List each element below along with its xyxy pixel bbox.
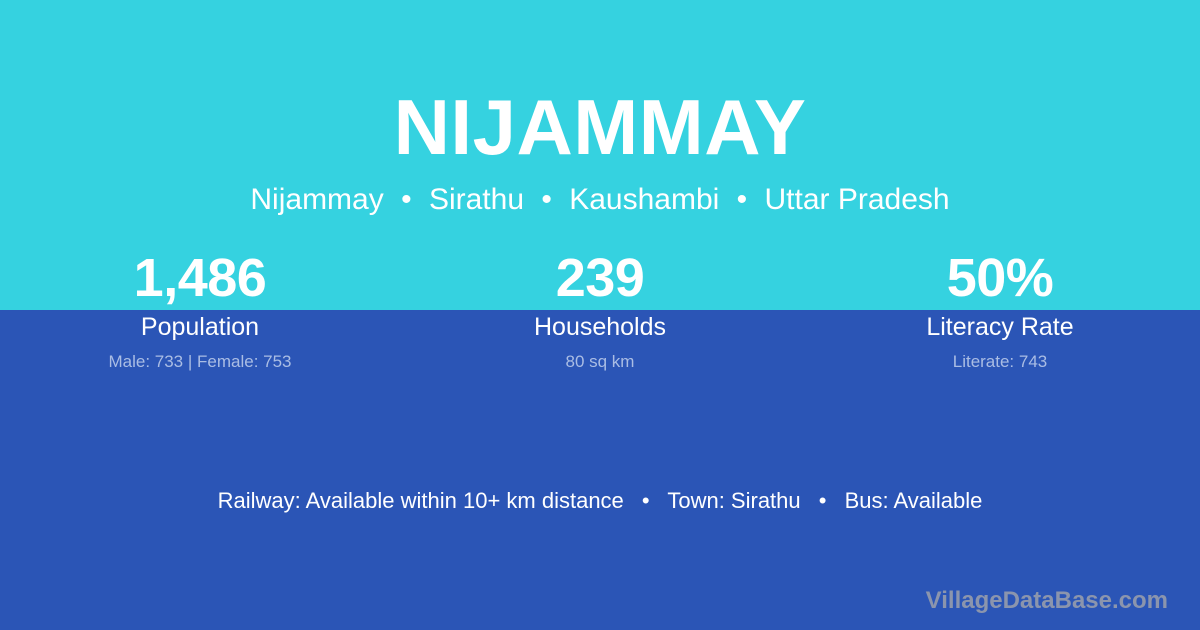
amenities-line: Railway: Available within 10+ km distanc…	[0, 487, 1200, 515]
stat-sub: 80 sq km	[400, 351, 800, 373]
breadcrumb: Nijammay • Sirathu • Kaushambi • Uttar P…	[0, 181, 1200, 219]
site-brand: VillageDataBase.com	[926, 586, 1168, 616]
amenity-town: Town: Sirathu	[667, 488, 800, 513]
stat-value: 239	[400, 246, 800, 310]
stat-sub: Literate: 743	[800, 351, 1200, 373]
breadcrumb-item-block: Sirathu	[429, 183, 524, 216]
stat-literacy-rate: 50% Literacy Rate Literate: 743	[800, 246, 1200, 373]
breadcrumb-item-district: Kaushambi	[569, 183, 719, 216]
stat-population: 1,486 Population Male: 733 | Female: 753	[0, 246, 400, 373]
stat-value: 50%	[800, 246, 1200, 310]
page-title: NIJAMMAY	[0, 82, 1200, 172]
breadcrumb-item-village: Nijammay	[250, 183, 383, 216]
breadcrumb-separator: •	[728, 181, 757, 219]
amenity-separator: •	[807, 487, 839, 515]
stats-row: 1,486 Population Male: 733 | Female: 753…	[0, 246, 1200, 373]
stat-label: Literacy Rate	[800, 312, 1200, 342]
stat-value: 1,486	[0, 246, 400, 310]
stat-label: Population	[0, 312, 400, 342]
amenity-separator: •	[630, 487, 662, 515]
breadcrumb-item-state: Uttar Pradesh	[765, 183, 950, 216]
stat-households: 239 Households 80 sq km	[400, 246, 800, 373]
amenity-bus: Bus: Available	[845, 488, 983, 513]
amenity-railway: Railway: Available within 10+ km distanc…	[218, 488, 624, 513]
breadcrumb-separator: •	[532, 181, 561, 219]
breadcrumb-separator: •	[392, 181, 421, 219]
stat-label: Households	[400, 312, 800, 342]
stat-sub: Male: 733 | Female: 753	[0, 351, 400, 373]
village-info-card: NIJAMMAY Nijammay • Sirathu • Kaushambi …	[0, 0, 1200, 630]
